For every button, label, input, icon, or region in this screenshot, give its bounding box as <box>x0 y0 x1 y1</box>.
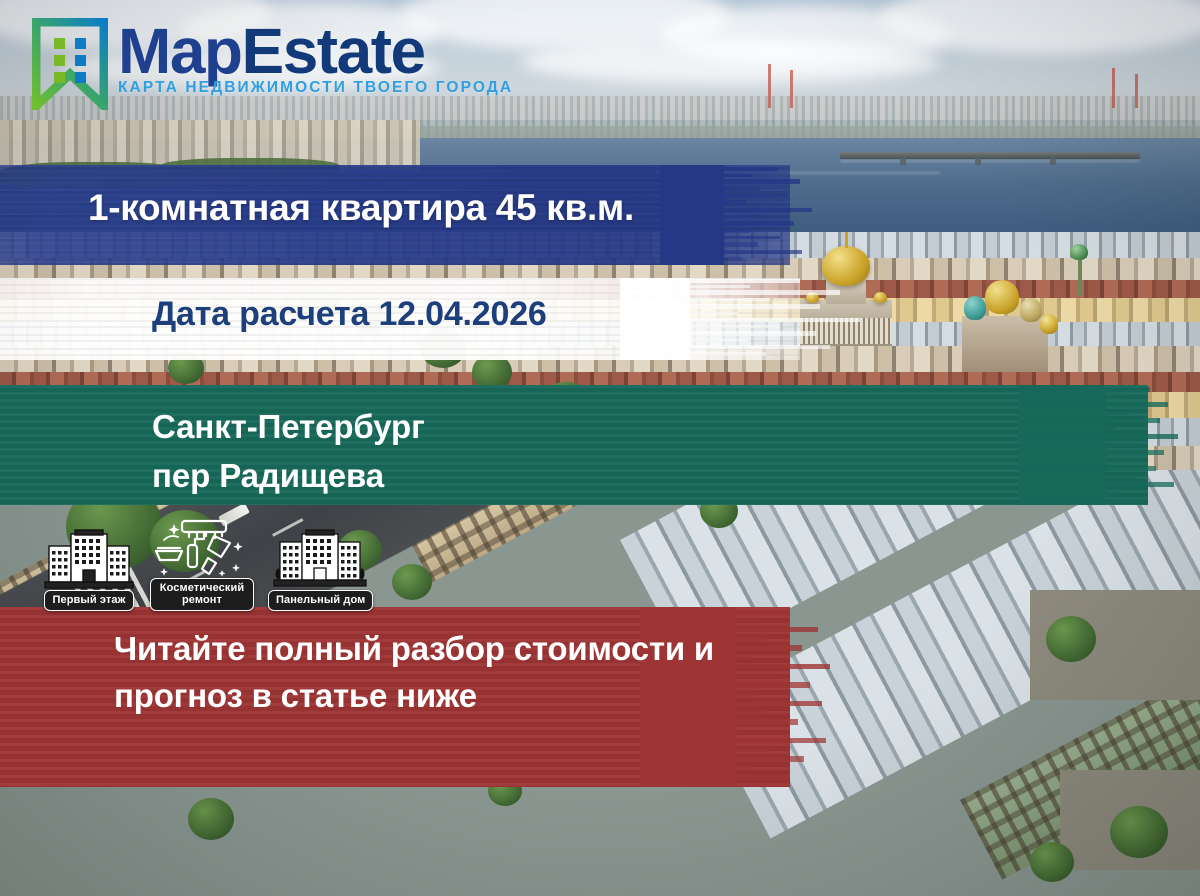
feature-badge-label: Первый этаж <box>44 590 133 610</box>
bridge-pier <box>975 157 981 165</box>
brand-tagline: КАРТА НЕДВИЖИМОСТИ ТВОЕГО ГОРОДА <box>118 79 513 97</box>
savior-main-dome <box>985 280 1019 314</box>
brand-name-map: Map <box>118 15 242 87</box>
poster-canvas: MapEstate КАРТА НЕДВИЖИМОСТИ ТВОЕГО ГОРО… <box>0 0 1200 896</box>
feature-badge-label: Косметический ремонт <box>150 578 254 611</box>
spire-dome <box>1070 244 1088 260</box>
feature-badge-label: Панельный дом <box>268 590 373 610</box>
bridge <box>840 152 1140 159</box>
bridge-pier <box>1050 157 1056 165</box>
brand-name-estate: Estate <box>242 15 425 87</box>
crane <box>768 64 771 108</box>
water-glint <box>840 160 1140 162</box>
savior-side-dome <box>964 296 986 320</box>
tree <box>188 798 234 840</box>
location-street: пер Радищева <box>152 452 1052 501</box>
crane <box>790 70 793 108</box>
property-location: Санкт-Петербург пер Радищева <box>152 403 1052 501</box>
crane <box>1135 74 1138 108</box>
savior-side-dome <box>1020 298 1042 322</box>
st-isaacs-colonnade <box>800 318 892 344</box>
corner-dome <box>874 292 887 303</box>
feature-badge-panel-house[interactable]: Панельный дом <box>268 528 372 610</box>
property-title: 1-комнатная квартира 45 кв.м. <box>88 188 788 229</box>
bridge-pier <box>900 157 906 165</box>
location-city: Санкт-Петербург <box>152 403 1052 452</box>
corner-dome <box>806 292 819 303</box>
feature-badge-renovation[interactable]: Косметический ремонт <box>150 516 254 611</box>
panel-apartment-building-icon <box>268 528 372 590</box>
tree <box>1030 842 1074 882</box>
tree <box>1046 616 1096 662</box>
st-isaacs-spire <box>845 232 848 248</box>
feature-badges: Первый этаж <box>42 516 372 611</box>
savior-on-blood-base <box>962 316 1048 372</box>
brand-text: MapEstate КАРТА НЕДВИЖИМОСТИ ТВОЕГО ГОРО… <box>118 18 513 97</box>
calculation-date: Дата расчета 12.04.2026 <box>152 296 772 333</box>
building-bookmark-pin-icon <box>32 18 108 115</box>
paint-roller-brush-icon <box>150 516 254 578</box>
brand-logo[interactable]: MapEstate КАРТА НЕДВИЖИМОСТИ ТВОЕГО ГОРО… <box>32 18 513 115</box>
cta-text: Читайте полный разбор стоимости и прогно… <box>114 626 774 720</box>
crane <box>1112 68 1115 108</box>
savior-side-dome <box>1040 314 1058 334</box>
classical-building-icon <box>42 528 136 590</box>
tree <box>1110 806 1168 858</box>
tree <box>392 564 432 600</box>
cloud <box>520 40 940 84</box>
st-isaacs-dome <box>822 246 870 286</box>
brand-wordmark: MapEstate <box>118 22 513 81</box>
feature-badge-first-floor[interactable]: Первый этаж <box>42 528 136 610</box>
